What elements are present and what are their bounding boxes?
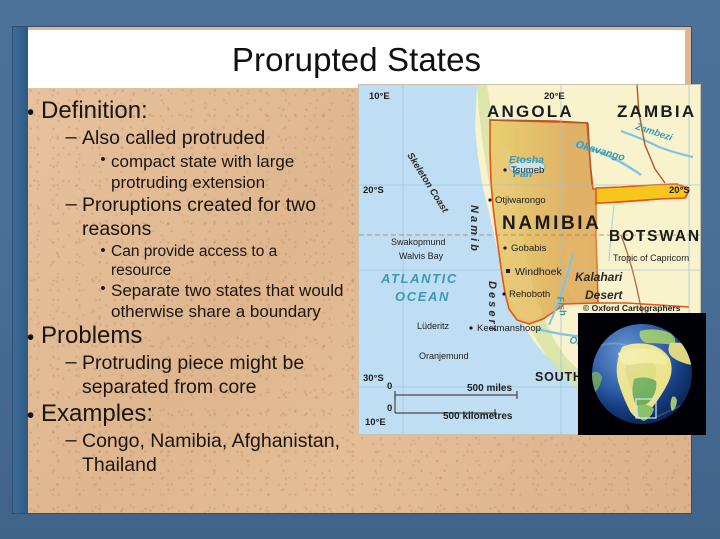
bullet-text: Can provide access to a resource: [111, 242, 339, 280]
slide-title-bar: Prorupted States: [28, 30, 685, 88]
bullet-row-level-1: •Examples:: [20, 400, 358, 428]
bullet-marker: –: [60, 430, 82, 450]
bullet-marker: •: [95, 281, 111, 296]
slide-canvas: Prorupted States •Definition:–Also calle…: [13, 27, 691, 513]
bullet-text: compact state with large protruding exte…: [111, 151, 347, 193]
bullet-text: Problems: [41, 322, 142, 350]
bullet-row-level-3: •Separate two states that would otherwis…: [95, 280, 358, 322]
bullet-row-level-1: •Problems: [20, 322, 358, 350]
bullet-marker: •: [20, 102, 41, 123]
bullet-text: Separate two states that would otherwise…: [111, 280, 347, 322]
bullet-marker: •: [95, 152, 111, 167]
bullet-row-level-3: •Can provide access to a resource: [95, 242, 358, 280]
globe-inset-image: [578, 313, 706, 435]
bullet-marker: •: [20, 405, 41, 426]
bullet-text: Also called protruded: [82, 126, 265, 150]
bullet-row-level-2: –Congo, Namibia, Afghanistan, Thailand: [60, 429, 358, 477]
bullet-text: Protruding piece might be separated from…: [82, 351, 350, 399]
bullet-marker: •: [20, 327, 41, 348]
bullet-marker: –: [60, 352, 82, 372]
bullet-marker: –: [60, 194, 82, 214]
bullet-text: Definition:: [41, 97, 148, 125]
page-title: Prorupted States: [232, 43, 481, 76]
bullet-text: Proruptions created for two reasons: [82, 193, 350, 241]
bullet-row-level-2: –Proruptions created for two reasons: [60, 193, 358, 241]
bullet-row-level-2: –Protruding piece might be separated fro…: [60, 351, 358, 399]
bullet-text: Examples:: [41, 400, 153, 428]
bullet-list: •Definition:–Also called protruded•compa…: [13, 97, 358, 478]
bullet-row-level-1: •Definition:: [20, 97, 358, 125]
bullet-row-level-2: –Also called protruded: [60, 126, 358, 150]
bullet-marker: •: [95, 243, 111, 258]
bullet-text: Congo, Namibia, Afghanistan, Thailand: [82, 429, 350, 477]
slide-outer-frame: Prorupted States •Definition:–Also calle…: [0, 0, 720, 539]
bullet-marker: –: [60, 127, 82, 147]
bullet-row-level-3: •compact state with large protruding ext…: [95, 151, 358, 193]
